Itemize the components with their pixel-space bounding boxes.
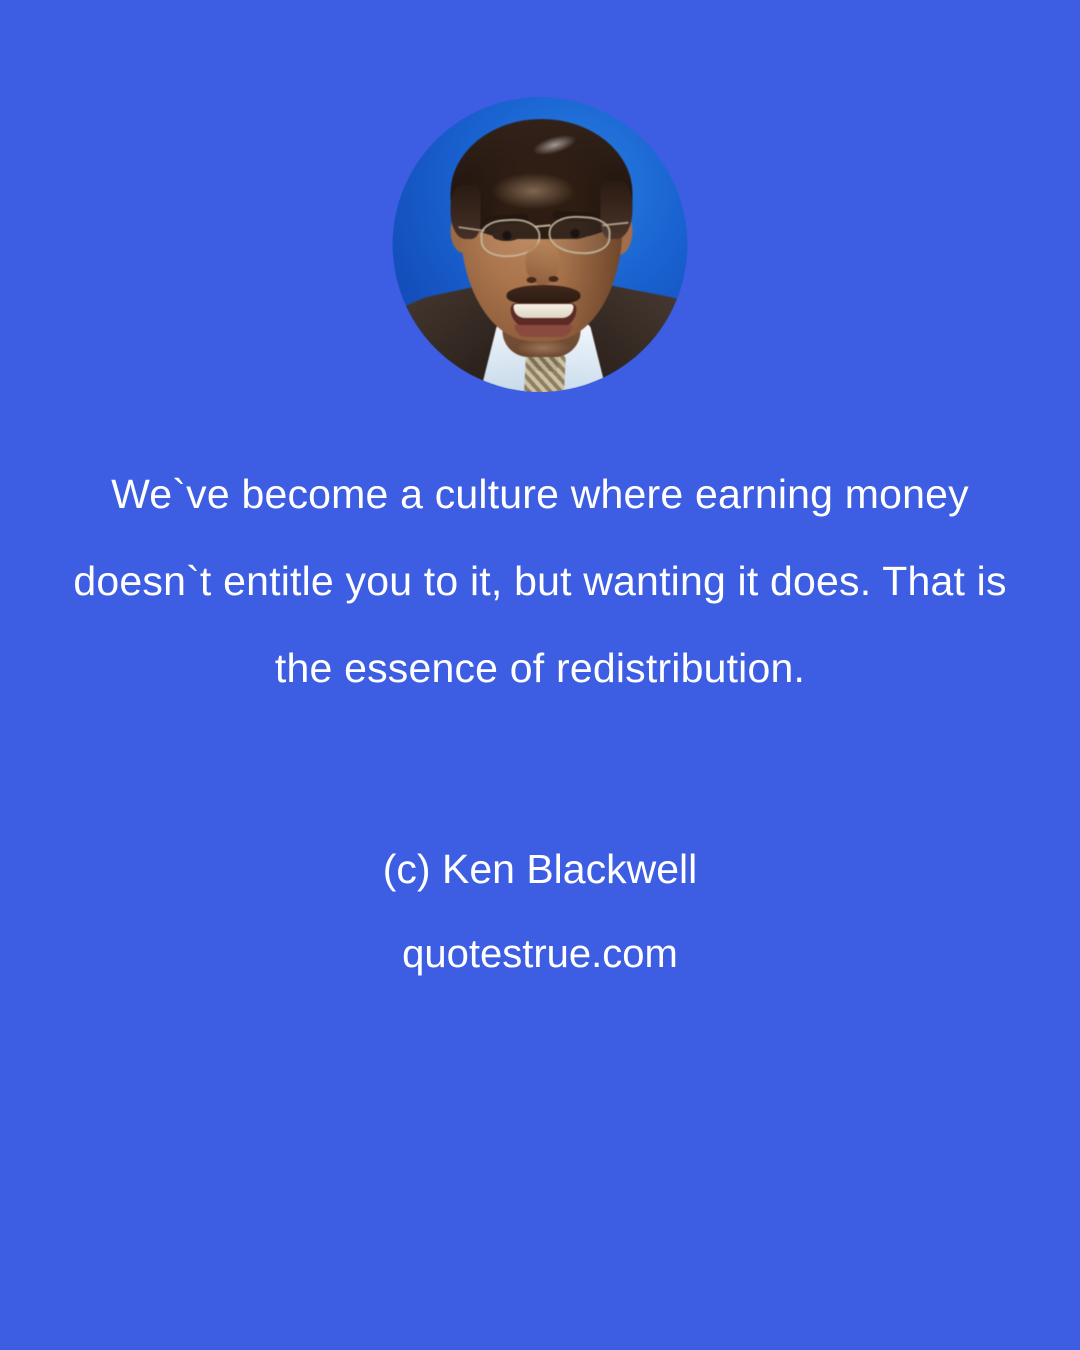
- lower-lip: [515, 325, 573, 337]
- quote-author: (c) Ken Blackwell: [0, 843, 1080, 895]
- author-portrait-avatar: [393, 97, 688, 392]
- hair-temple-left: [451, 185, 481, 239]
- quote-text: We`ve become a culture where earning mon…: [0, 451, 1080, 712]
- teeth: [514, 304, 574, 318]
- forehead-highlight: [493, 173, 575, 209]
- chin-highlight: [517, 339, 571, 357]
- portrait-container: [393, 97, 688, 392]
- nostril-right: [549, 276, 559, 282]
- source-website: quotestrue.com: [0, 928, 1080, 980]
- moustache: [507, 285, 581, 305]
- quote-card: We`ve become a culture where earning mon…: [0, 0, 1080, 1350]
- nostril-left: [527, 277, 537, 283]
